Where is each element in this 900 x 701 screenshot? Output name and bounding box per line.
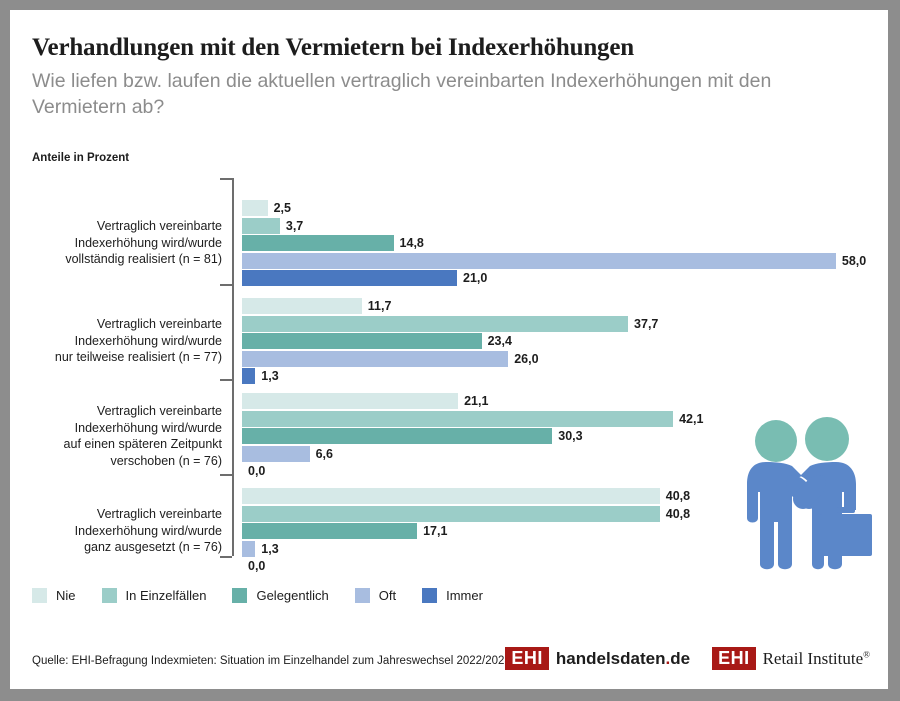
category-label-line: vollständig realisiert (n = 81): [32, 251, 222, 268]
bar-nie: [242, 298, 362, 314]
category-label: Vertraglich vereinbarteIndexerhöhung wir…: [32, 316, 222, 366]
legend-item-nie[interactable]: Nie: [32, 588, 76, 603]
ehi-mark-icon: EHI: [505, 647, 549, 670]
axis-tick-3: [220, 474, 232, 476]
bar-value-label: 1,3: [261, 542, 278, 556]
bar-value-label: 1,3: [261, 369, 278, 383]
logo-handelsdaten-text: handelsdaten.de: [556, 649, 690, 669]
bar-value-label: 21,0: [463, 271, 487, 285]
bar-value-label: 37,7: [634, 317, 658, 331]
bar-oft: [242, 446, 310, 462]
handshake-illustration: [736, 414, 876, 574]
category-axis-line: [232, 178, 234, 556]
bar-value-label: 26,0: [514, 352, 538, 366]
category-label-line: ganz ausgesetzt (n = 76): [32, 539, 222, 556]
axis-tick-4: [220, 556, 232, 558]
bar-immer: [242, 270, 457, 286]
bar-in-einzelf-llen: [242, 218, 280, 234]
bar-value-label: 42,1: [679, 412, 703, 426]
category-label-line: Indexerhöhung wird/wurde: [32, 523, 222, 540]
category-label-line: Indexerhöhung wird/wurde: [32, 235, 222, 252]
chart-card: Verhandlungen mit den Vermietern bei Ind…: [10, 10, 888, 689]
ehi-mark-icon-2: EHI: [712, 647, 756, 670]
legend-label: Nie: [56, 588, 76, 603]
legend-item-gelegentlich[interactable]: Gelegentlich: [232, 588, 328, 603]
logo-ehi-retail-institute: EHI Retail Institute®: [712, 647, 870, 670]
legend-label: Immer: [446, 588, 483, 603]
bar-value-label: 14,8: [400, 236, 424, 250]
logo-group: EHI handelsdaten.de EHI Retail Institute…: [483, 647, 870, 670]
logo-ehi-handelsdaten: EHI handelsdaten.de: [505, 647, 690, 670]
axis-tick-0: [220, 178, 232, 180]
category-label-line: nur teilweise realisiert (n = 77): [32, 349, 222, 366]
axis-tick-1: [220, 284, 232, 286]
bar-oft: [242, 541, 255, 557]
source-note: Quelle: EHI-Befragung Indexmieten: Situa…: [32, 655, 511, 667]
legend-swatch-icon: [232, 588, 247, 603]
category-label: Vertraglich vereinbarteIndexerhöhung wir…: [32, 403, 222, 469]
bar-value-label: 23,4: [488, 334, 512, 348]
category-label-line: Vertraglich vereinbarte: [32, 316, 222, 333]
bar-nie: [242, 488, 660, 504]
bar-nie: [242, 200, 268, 216]
category-label-line: auf einen späteren Zeitpunkt: [32, 436, 222, 453]
bar-value-label: 11,7: [368, 299, 392, 313]
bar-gelegentlich: [242, 428, 552, 444]
bar-gelegentlich: [242, 333, 482, 349]
bar-value-label: 40,8: [666, 507, 690, 521]
category-label-line: Indexerhöhung wird/wurde: [32, 420, 222, 437]
bar-value-label: 40,8: [666, 489, 690, 503]
bar-in-einzelf-llen: [242, 316, 628, 332]
legend-swatch-icon: [422, 588, 437, 603]
bar-gelegentlich: [242, 235, 394, 251]
logo-retail-institute-text: Retail Institute®: [763, 649, 870, 669]
category-label-line: Vertraglich vereinbarte: [32, 218, 222, 235]
axis-tick-2: [220, 379, 232, 381]
category-label-line: Indexerhöhung wird/wurde: [32, 333, 222, 350]
legend-swatch-icon: [355, 588, 370, 603]
legend-label: Oft: [379, 588, 396, 603]
bar-value-label: 0,0: [248, 559, 265, 573]
bar-value-label: 2,5: [274, 201, 291, 215]
legend-item-oft[interactable]: Oft: [355, 588, 396, 603]
chart-legend: NieIn EinzelfällenGelegentlichOftImmer: [32, 588, 509, 603]
bar-oft: [242, 253, 836, 269]
legend-item-in-einzelf-llen[interactable]: In Einzelfällen: [102, 588, 207, 603]
bar-value-label: 30,3: [558, 429, 582, 443]
bar-value-label: 17,1: [423, 524, 447, 538]
legend-label: In Einzelfällen: [126, 588, 207, 603]
legend-swatch-icon: [102, 588, 117, 603]
bar-oft: [242, 351, 508, 367]
legend-swatch-icon: [32, 588, 47, 603]
bar-in-einzelf-llen: [242, 411, 673, 427]
bar-value-label: 6,6: [316, 447, 333, 461]
bar-value-label: 3,7: [286, 219, 303, 233]
category-label: Vertraglich vereinbarteIndexerhöhung wir…: [32, 218, 222, 268]
bar-gelegentlich: [242, 523, 417, 539]
category-label-line: verschoben (n = 76): [32, 453, 222, 470]
bar-immer: [242, 368, 255, 384]
bar-value-label: 0,0: [248, 464, 265, 478]
bar-in-einzelf-llen: [242, 506, 660, 522]
legend-label: Gelegentlich: [256, 588, 328, 603]
legend-item-immer[interactable]: Immer: [422, 588, 483, 603]
category-label-line: Vertraglich vereinbarte: [32, 506, 222, 523]
category-label: Vertraglich vereinbarteIndexerhöhung wir…: [32, 506, 222, 556]
bar-nie: [242, 393, 458, 409]
bar-value-label: 21,1: [464, 394, 488, 408]
category-label-line: Vertraglich vereinbarte: [32, 403, 222, 420]
bar-value-label: 58,0: [842, 254, 866, 268]
